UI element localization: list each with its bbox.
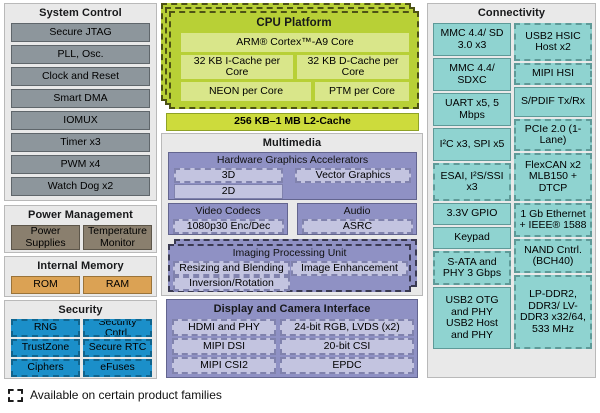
panel-title-power-management: Power Management	[5, 206, 156, 223]
block-rom[interactable]: ROM	[11, 276, 80, 294]
block-uart-x5[interactable]: UART x5, 5 Mbps	[433, 93, 511, 126]
block-ptm-per-core[interactable]: PTM per Core	[315, 82, 409, 101]
panel-connectivity: Connectivity MMC 4.4/ SD 3.0 x3 MMC 4.4/…	[427, 3, 596, 378]
block-ram[interactable]: RAM	[83, 276, 152, 294]
block-power-supplies[interactable]: Power Supplies	[11, 225, 80, 250]
block-epdc[interactable]: EPDC	[280, 357, 414, 374]
block-smart-dma[interactable]: Smart DMA	[11, 89, 150, 108]
block-spdif-tx-rx[interactable]: S/PDIF Tx/Rx	[514, 87, 592, 117]
panel-internal-memory: Internal Memory ROM RAM	[4, 256, 157, 297]
ipu-stack: Imaging Processing Unit Resizing and Ble…	[168, 239, 417, 293]
soc-block-diagram: System Control Secure JTAG PLL, Osc. Clo…	[0, 0, 600, 413]
block-1gb-ethernet-ieee1588[interactable]: 1 Gb Ethernet + IEEE® 1588	[514, 203, 592, 237]
panel-display-and-camera-interface: Display and Camera Interface HDMI and PH…	[166, 299, 418, 378]
block-l2-cache[interactable]: 256 KB–1 MB L2-Cache	[166, 113, 419, 131]
block-hdmi-and-phy[interactable]: HDMI and PHY	[172, 319, 276, 336]
block-secure-rtc[interactable]: Secure RTC	[83, 339, 152, 357]
video-codecs-title: Video Codecs	[169, 204, 287, 218]
block-clock-and-reset[interactable]: Clock and Reset	[11, 67, 150, 86]
panel-multimedia: Multimedia Hardware Graphics Accelerator…	[161, 133, 423, 296]
cpu-platform-stack: CPU Platform ARM® Cortex™-A9 Core 32 KB …	[161, 3, 423, 117]
group-audio: Audio ASRC	[297, 203, 417, 235]
block-mipi-dsi[interactable]: MIPI DSI	[172, 338, 276, 355]
panel-title-multimedia: Multimedia	[162, 134, 422, 151]
block-2d[interactable]: 2D	[174, 184, 283, 199]
block-secure-jtag[interactable]: Secure JTAG	[11, 23, 150, 42]
block-watch-dog-x2[interactable]: Watch Dog x2	[11, 177, 150, 196]
block-33v-gpio[interactable]: 3.3V GPIO	[433, 203, 511, 225]
block-20bit-csi[interactable]: 20-bit CSI	[280, 338, 414, 355]
block-efuses[interactable]: eFuses	[83, 359, 152, 377]
block-timer-x3[interactable]: Timer x3	[11, 133, 150, 152]
block-i-cache[interactable]: 32 KB I-Cache per Core	[181, 55, 293, 79]
block-pll-osc[interactable]: PLL, Osc.	[11, 45, 150, 64]
block-asrc[interactable]: ASRC	[302, 219, 413, 234]
audio-title: Audio	[298, 204, 416, 218]
block-s-ata-and-phy[interactable]: S-ATA and PHY 3 Gbps	[433, 251, 511, 285]
ipu-card: Imaging Processing Unit Resizing and Ble…	[168, 244, 411, 292]
block-trustzone[interactable]: TrustZone	[11, 339, 80, 357]
block-lp-ddr2-ddr3[interactable]: LP-DDR2, DDR3/ LV-DDR3 x32/64, 533 MHz	[514, 275, 592, 349]
panel-security: Security RNG Security Cntrl. TrustZone S…	[4, 300, 157, 379]
dashed-box-icon	[8, 389, 23, 402]
panel-title-connectivity: Connectivity	[428, 4, 595, 21]
block-temperature-monitor[interactable]: Temperature Monitor	[83, 225, 152, 250]
cpu-platform-title: CPU Platform	[171, 13, 417, 31]
panel-title-display-camera: Display and Camera Interface	[167, 300, 417, 317]
block-pcie-20[interactable]: PCIe 2.0 (1-Lane)	[514, 119, 592, 151]
block-mipi-hsi[interactable]: MIPI HSI	[514, 63, 592, 85]
panel-title-system-control: System Control	[5, 4, 156, 21]
block-security-cntrl[interactable]: Security Cntrl.	[83, 319, 152, 337]
block-mipi-csi2[interactable]: MIPI CSI2	[172, 357, 276, 374]
block-24bit-rgb-lvds[interactable]: 24-bit RGB, LVDS (x2)	[280, 319, 414, 336]
block-mmc44-sdxc[interactable]: MMC 4.4/ SDXC	[433, 58, 511, 91]
system-control-items: Secure JTAG PLL, Osc. Clock and Reset Sm…	[11, 23, 150, 196]
block-usb2-otg-host-phy[interactable]: USB2 OTG and PHY USB2 Host and PHY	[433, 287, 511, 349]
panel-title-security: Security	[5, 301, 156, 318]
block-3d[interactable]: 3D	[174, 168, 283, 183]
ipu-title: Imaging Processing Unit	[170, 246, 409, 260]
block-image-enhancement[interactable]: Image Enhancement	[291, 261, 408, 276]
block-neon-per-core[interactable]: NEON per Core	[181, 82, 311, 101]
block-1080p30-enc-dec[interactable]: 1080p30 Enc/Dec	[173, 219, 284, 234]
block-ciphers[interactable]: Ciphers	[11, 359, 80, 377]
block-keypad[interactable]: Keypad	[433, 227, 511, 249]
panel-power-management: Power Management Power Supplies Temperat…	[4, 205, 157, 253]
legend-label: Available on certain product families	[30, 388, 222, 402]
cpu-platform-card: CPU Platform ARM® Cortex™-A9 Core 32 KB …	[169, 11, 419, 109]
block-rng[interactable]: RNG	[11, 319, 80, 337]
block-esai-i2s-ssi[interactable]: ESAI, I²S/SSI x3	[433, 163, 511, 201]
panel-system-control: System Control Secure JTAG PLL, Osc. Clo…	[4, 3, 157, 201]
block-arm-cortex-a9-core[interactable]: ARM® Cortex™-A9 Core	[181, 33, 409, 52]
block-mmc44-sd30[interactable]: MMC 4.4/ SD 3.0 x3	[433, 23, 511, 56]
block-nand-cntrl-bch40[interactable]: NAND Cntrl. (BCH40)	[514, 239, 592, 273]
block-usb2-hsic-host[interactable]: USB2 HSIC Host x2	[514, 23, 592, 61]
block-flexcan-mlb150-dtcp[interactable]: FlexCAN x2 MLB150 + DTCP	[514, 153, 592, 201]
block-vector-graphics[interactable]: Vector Graphics	[295, 168, 411, 183]
block-pwm-x4[interactable]: PWM x4	[11, 155, 150, 174]
block-iomux[interactable]: IOMUX	[11, 111, 150, 130]
panel-title-internal-memory: Internal Memory	[5, 257, 156, 274]
graphics-group-title: Hardware Graphics Accelerators	[169, 153, 416, 167]
block-resizing-and-blending[interactable]: Resizing and Blending	[173, 261, 290, 276]
group-video-codecs: Video Codecs 1080p30 Enc/Dec	[168, 203, 288, 235]
block-i2c-spi[interactable]: I²C x3, SPI x5	[433, 128, 511, 161]
block-inversion-rotation[interactable]: Inversion/Rotation	[173, 276, 290, 291]
group-hardware-graphics-accelerators: Hardware Graphics Accelerators 3D Vector…	[168, 152, 417, 200]
legend: Available on certain product families	[8, 388, 222, 402]
block-d-cache[interactable]: 32 KB D-Cache per Core	[297, 55, 409, 79]
